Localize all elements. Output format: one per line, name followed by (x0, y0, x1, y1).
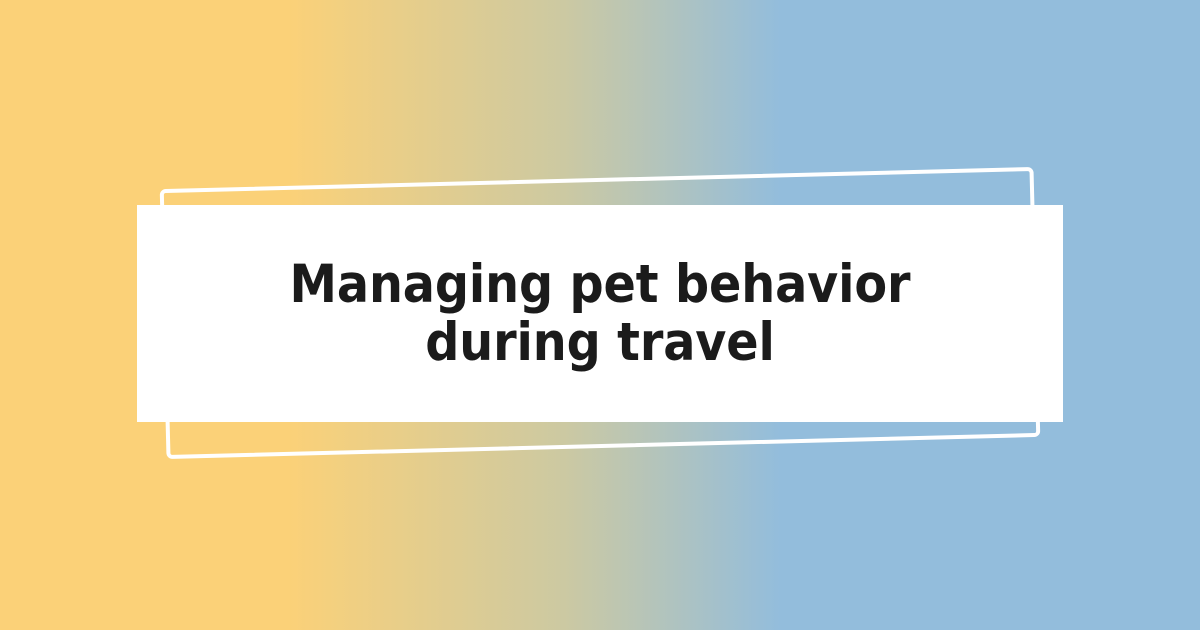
headline-card: Managing pet behavior during travel (137, 205, 1063, 422)
page-title: Managing pet behavior during travel (244, 256, 957, 372)
social-card-canvas: Managing pet behavior during travel (0, 0, 1200, 630)
